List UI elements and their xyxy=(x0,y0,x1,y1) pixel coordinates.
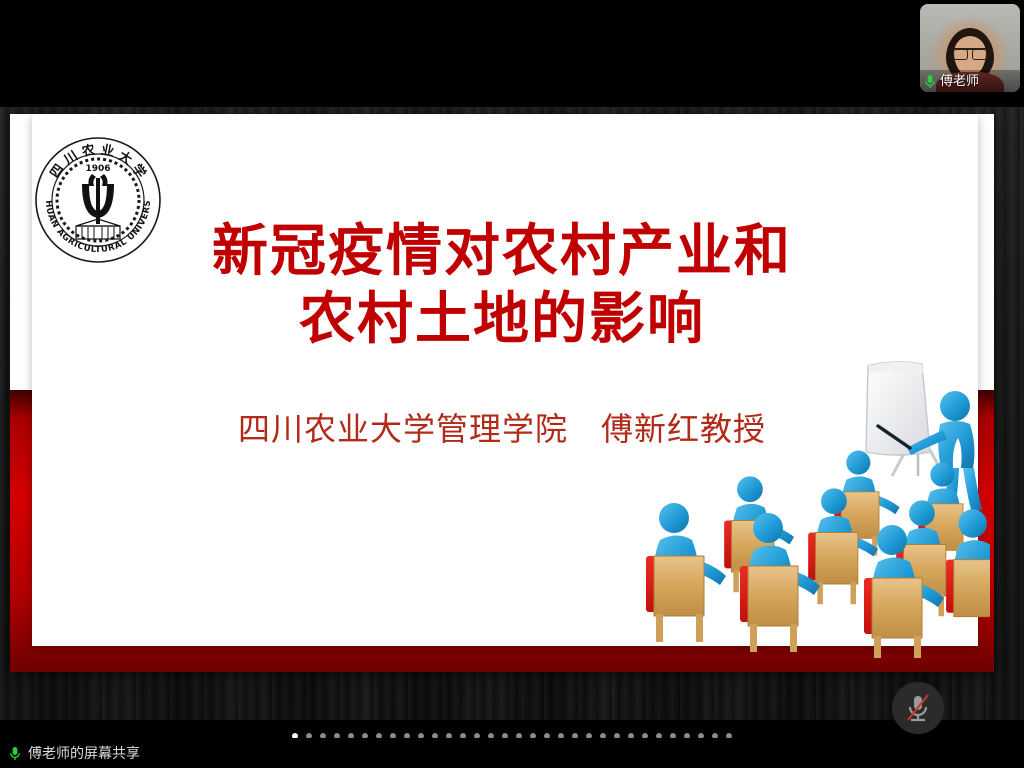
mute-microphone-button[interactable] xyxy=(892,682,944,734)
sichuan-agricultural-university-logo: 四 川 农 业 大 学 SICHUAN AGRICULTURAL UNIVERS… xyxy=(32,134,164,266)
microphone-green-icon xyxy=(9,746,21,761)
screen-share-status-bar: 傅老师的屏幕共享 xyxy=(0,738,1024,768)
microphone-green-icon xyxy=(924,74,936,89)
video-avatar-glasses xyxy=(953,48,987,57)
shared-slide: 四 川 农 业 大 学 SICHUAN AGRICULTURAL UNIVERS… xyxy=(10,114,994,672)
svg-text:1906: 1906 xyxy=(85,164,110,174)
participant-name-overlay: 傅老师 xyxy=(920,70,1020,92)
microphone-muted-icon xyxy=(905,693,931,723)
participant-name: 傅老师 xyxy=(940,75,979,88)
status-bar-text: 傅老师的屏幕共享 xyxy=(28,743,140,763)
classroom-lecture-clipart xyxy=(630,358,990,658)
zoom-screen-share-view: 四 川 农 业 大 学 SICHUAN AGRICULTURAL UNIVERS… xyxy=(0,0,1024,768)
participant-video-tile[interactable]: 傅老师 xyxy=(920,4,1020,92)
